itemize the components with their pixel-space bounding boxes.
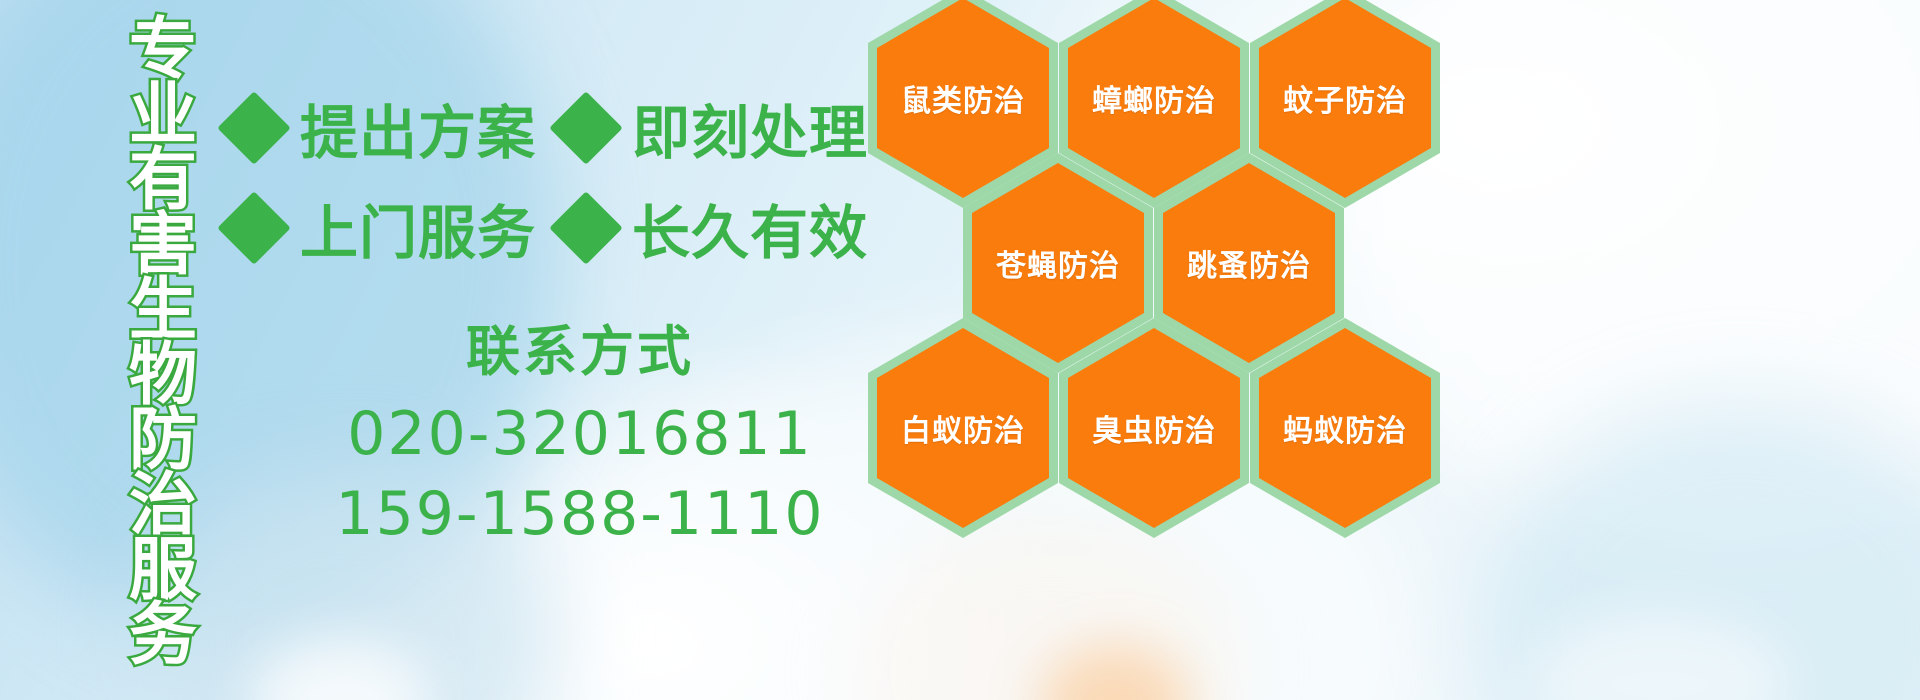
- service-hex-bedbug-control[interactable]: 臭虫防治: [1059, 318, 1249, 538]
- feature-row: 上门服务 长久有效: [228, 178, 868, 278]
- service-hex-label: 鼠类防治: [901, 76, 1025, 120]
- service-hex-label: 臭虫防治: [1092, 406, 1216, 450]
- service-hexagon-cluster: 鼠类防治 蟑螂防治 蚊子防治 苍蝇防治 跳蚤防治 白蚁防治: [862, 0, 1482, 700]
- feature-label: 上门服务: [300, 186, 536, 270]
- feature-row: 提出方案 即刻处理: [228, 78, 868, 178]
- slogan-char: 物: [129, 343, 197, 408]
- feature-list: 提出方案 即刻处理 上门服务 长久有效: [228, 78, 868, 278]
- phone-landline[interactable]: 020-32016811: [300, 394, 860, 474]
- feature-label: 长久有效: [632, 186, 868, 270]
- diamond-bullet-icon: [549, 191, 623, 265]
- foreground-highlight: [1530, 610, 1790, 700]
- feature-item-immediate-handling: 即刻处理: [560, 86, 868, 170]
- slogan-char: 有: [129, 148, 197, 213]
- diamond-bullet-icon: [549, 91, 623, 165]
- contact-title: 联系方式: [300, 316, 860, 388]
- service-hex-label: 蚂蚁防治: [1283, 406, 1407, 450]
- slogan-char: 专: [129, 18, 197, 83]
- slogan-char: 防: [129, 408, 197, 473]
- slogan-char: 害: [129, 213, 197, 278]
- foreground-highlight: [250, 640, 430, 700]
- slogan-char: 业: [129, 83, 197, 148]
- service-hex-ant-control[interactable]: 蚂蚁防治: [1250, 318, 1440, 538]
- phone-mobile[interactable]: 159-1588-1110: [300, 474, 860, 554]
- feature-label: 即刻处理: [632, 86, 868, 170]
- feature-item-propose-plan: 提出方案: [228, 86, 560, 170]
- service-hex-label: 蚊子防治: [1283, 76, 1407, 120]
- feature-item-long-lasting: 长久有效: [560, 186, 868, 270]
- service-hex-termite-control[interactable]: 白蚁防治: [868, 318, 1058, 538]
- diamond-bullet-icon: [217, 91, 291, 165]
- contact-block: 联系方式 020-32016811 159-1588-1110: [300, 316, 860, 554]
- service-hex-label: 蟑螂防治: [1092, 76, 1216, 120]
- diamond-bullet-icon: [217, 191, 291, 265]
- feature-label: 提出方案: [300, 86, 536, 170]
- vertical-slogan: 专 业 有 害 生 物 防 治 服 务: [104, 18, 222, 682]
- service-hex-label: 白蚁防治: [901, 406, 1025, 450]
- promo-banner: 专 业 有 害 生 物 防 治 服 务 提出方案 即刻处理 上门服务: [0, 0, 1920, 700]
- feature-item-onsite-service: 上门服务: [228, 186, 560, 270]
- slogan-char: 务: [129, 603, 197, 668]
- slogan-char: 服: [129, 538, 197, 603]
- slogan-char: 生: [129, 278, 197, 343]
- service-hex-label: 跳蚤防治: [1187, 241, 1311, 285]
- service-hex-label: 苍蝇防治: [996, 241, 1120, 285]
- slogan-char: 治: [129, 473, 197, 538]
